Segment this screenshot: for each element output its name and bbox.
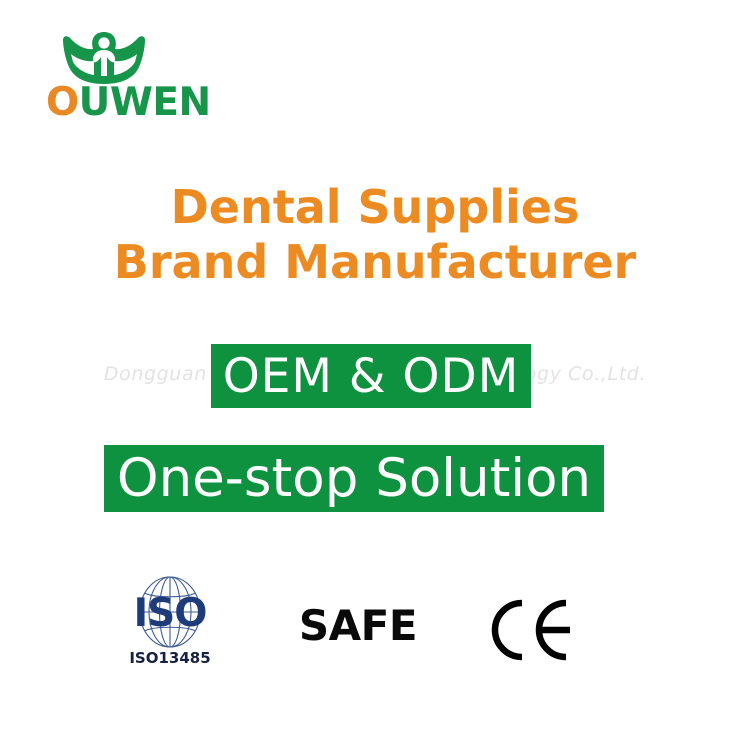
product-banner-canvas: OUWEN Dental Supplies Brand Manufacturer… [0,0,750,750]
page-title-line-2: Brand Manufacturer [0,235,750,290]
crown-figure-emblem-icon [60,30,148,86]
certification-badges: ISO ISO13485 SAFE [0,575,750,685]
safe-mark-label: SAFE [299,601,417,650]
banner-one-stop-solution-label: One-stop Solution [117,448,591,509]
iso-mark: ISO [104,575,236,651]
iso-mark-label: ISO [104,594,236,634]
certification-badge-ce [478,597,598,667]
banner-oem-odm: OEM & ODM [211,344,531,408]
certification-badge-iso: ISO ISO13485 [104,575,236,667]
page-title: Dental Supplies Brand Manufacturer [0,180,750,290]
brand-wordmark-rest: UWEN [79,80,211,125]
banner-oem-odm-label: OEM & ODM [223,349,520,404]
brand-wordmark-initial: O [46,80,79,125]
page-title-line-1: Dental Supplies [0,180,750,235]
brand-logo: OUWEN [46,30,246,122]
ce-mark-icon [478,597,598,667]
banner-one-stop-solution: One-stop Solution [104,445,604,512]
brand-wordmark: OUWEN [46,82,246,124]
certification-badge-safe: SAFE [283,602,433,650]
